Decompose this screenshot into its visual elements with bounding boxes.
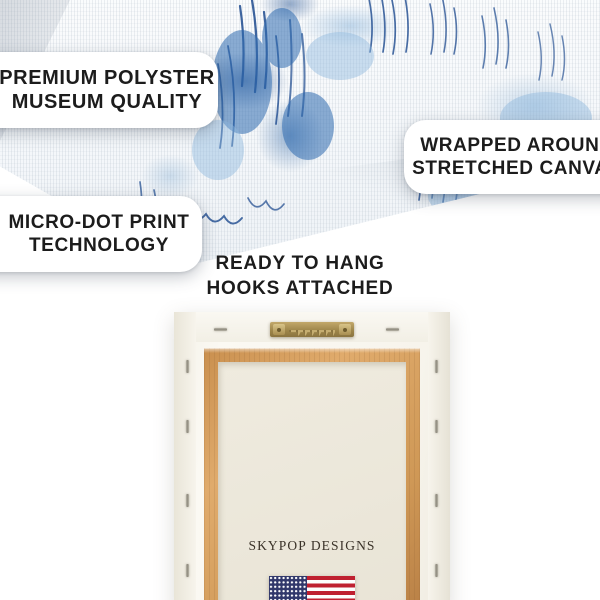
frame-bevel	[204, 348, 420, 353]
callout-line-2: MUSEUM QUALITY	[12, 90, 203, 114]
brand-label: SKYPOP DESIGNS	[218, 538, 406, 554]
callout-line-2: STRETCHED CANVAS	[412, 157, 600, 180]
staple	[186, 564, 189, 577]
staple	[435, 564, 438, 577]
callout-wrapped-around: WRAPPED AROUND STRETCHED CANVAS	[404, 120, 600, 194]
callout-line-1: WRAPPED AROUND	[420, 134, 600, 157]
callout-premium-polyster: PREMIUM POLYSTER MUSEUM QUALITY	[0, 52, 218, 128]
hanger-screw-left	[273, 324, 285, 335]
callout-line-1: PREMIUM POLYSTER	[0, 66, 215, 90]
hanger-screw-right	[339, 324, 351, 335]
staple	[435, 420, 438, 433]
staple	[435, 494, 438, 507]
staple	[214, 328, 227, 331]
staple	[186, 420, 189, 433]
sawtooth-hanger-icon	[270, 322, 354, 337]
wooden-stretcher-frame: SKYPOP DESIGNS	[204, 348, 420, 600]
canvas-right-edge	[428, 312, 450, 600]
flag-canton	[269, 576, 307, 600]
staple	[386, 328, 399, 331]
callout-line-1: MICRO-DOT PRINT	[8, 211, 189, 234]
product-feature-image: PREMIUM POLYSTER MUSEUM QUALITY WRAPPED …	[0, 0, 600, 600]
canvas-back-view: SKYPOP DESIGNS	[174, 312, 450, 600]
staple	[186, 494, 189, 507]
us-flag-icon	[269, 576, 355, 600]
ready-to-hang-heading: READY TO HANG HOOKS ATTACHED	[0, 252, 600, 301]
staple	[435, 360, 438, 373]
canvas-left-edge	[174, 312, 196, 600]
canvas-back-panel: SKYPOP DESIGNS	[218, 362, 406, 600]
heading-line-2: HOOKS ATTACHED	[0, 277, 600, 302]
staple	[186, 360, 189, 373]
hanger-teeth	[289, 330, 335, 336]
heading-line-1: READY TO HANG	[0, 252, 600, 277]
